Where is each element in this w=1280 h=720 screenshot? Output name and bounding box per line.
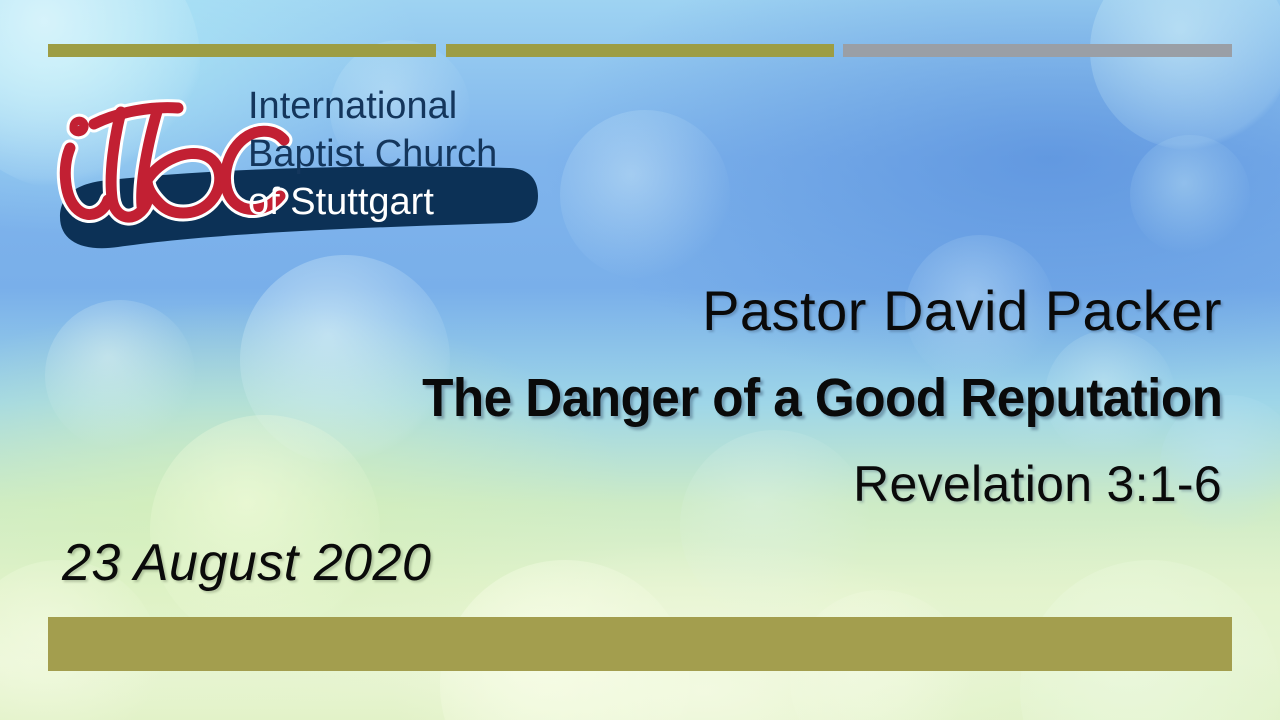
sermon-title: The Danger of a Good Reputation [422, 367, 1222, 429]
logo-text-international: International [248, 85, 457, 127]
itbc-logo: International Baptist Church of Stuttgar… [48, 72, 538, 257]
top-accent-bar-center [446, 44, 834, 57]
top-accent-bar-right [843, 44, 1232, 57]
sermon-title-slide: International Baptist Church of Stuttgar… [0, 0, 1280, 720]
sermon-date: 23 August 2020 [62, 533, 431, 593]
logo-text-of-stuttgart: of Stuttgart [248, 181, 434, 223]
logo-text-baptist-church: Baptist Church [248, 133, 497, 175]
bottom-accent-bar [48, 617, 1232, 671]
top-accent-bar-left [48, 44, 436, 57]
speaker-name: Pastor David Packer [702, 278, 1222, 343]
scripture-reference: Revelation 3:1-6 [853, 455, 1222, 513]
